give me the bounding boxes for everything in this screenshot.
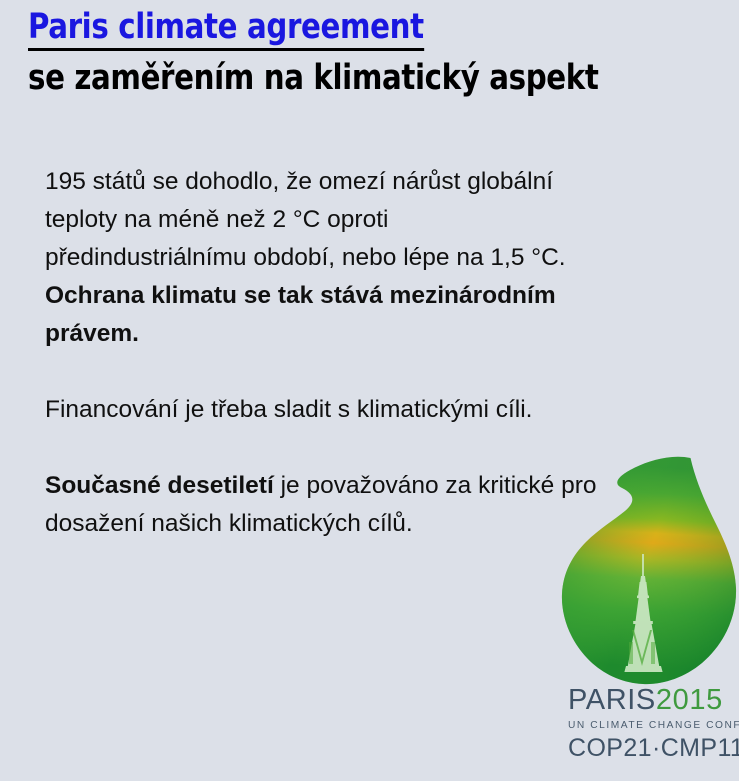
wordmark-subtitle: UN CLIMATE CHANGE CONFERENCE bbox=[568, 721, 739, 731]
paragraph-spacer-1 bbox=[45, 353, 685, 391]
wordmark-paris-2015: PARIS2015 bbox=[568, 686, 739, 715]
paragraph-1: 195 států se dohodlo, že omezí nárůst gl… bbox=[45, 163, 685, 353]
slide-canvas: Paris climate agreement se zaměřením na … bbox=[0, 0, 739, 781]
paragraph-1-line-3: předindustriálnímu období, nebo lépe na … bbox=[45, 239, 685, 277]
wordmark-year: 2015 bbox=[656, 684, 723, 716]
paragraph-3-bold-lead: Současné desetiletí bbox=[45, 472, 274, 499]
page-title: Paris climate agreement se zaměřením na … bbox=[28, 8, 728, 98]
paragraph-1-line-2: teploty na méně než 2 °C oproti bbox=[45, 201, 685, 239]
wordmark-conference: COP21·CMP11 bbox=[568, 736, 739, 761]
paragraph-1-bold-line-2: právem. bbox=[45, 315, 685, 353]
cop21-leaf-eiffel-icon bbox=[546, 452, 739, 692]
paragraph-1-bold-line-1: Ochrana klimatu se tak stává mezinárodní… bbox=[45, 277, 685, 315]
title-line-primary: Paris climate agreement bbox=[28, 8, 424, 51]
title-line-secondary: se zaměřením na klimatický aspekt bbox=[28, 58, 679, 98]
paragraph-2-line-1: Financování je třeba sladit s klimatický… bbox=[45, 391, 685, 429]
logo-wordmark: PARIS2015 UN CLIMATE CHANGE CONFERENCE C… bbox=[568, 686, 739, 761]
paragraph-2: Financování je třeba sladit s klimatický… bbox=[45, 391, 685, 429]
paragraph-1-line-1: 195 států se dohodlo, že omezí nárůst gl… bbox=[45, 163, 685, 201]
wordmark-paris: PARIS bbox=[568, 684, 656, 716]
